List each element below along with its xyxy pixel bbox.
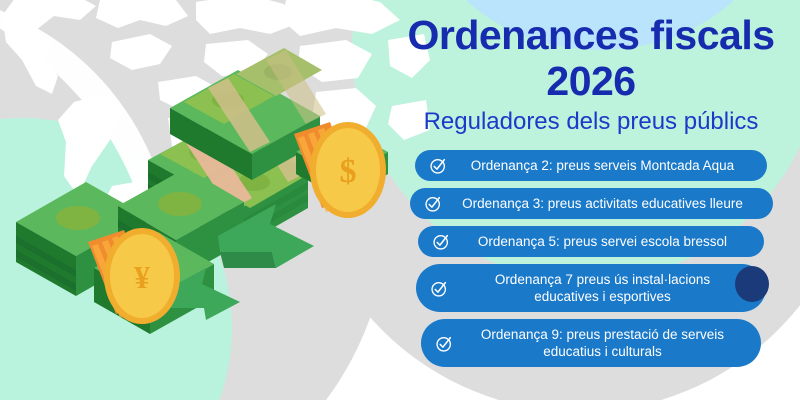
ordinance-pill[interactable]: Ordenança 3: preus activitats educatives…: [410, 188, 773, 219]
check-circle-icon: [430, 279, 449, 298]
check-circle-icon: [432, 232, 451, 251]
check-circle-icon: [424, 194, 443, 213]
page-subtitle: Reguladores dels preus públics: [382, 108, 800, 136]
ordinance-pill-label: Ordenança 9: preus prestació de serveis …: [460, 326, 755, 360]
coin-yen: ¥: [88, 228, 180, 324]
svg-text:¥: ¥: [134, 259, 150, 295]
ordinance-list: Ordenança 2: preus serveis Montcada Aqua…: [382, 150, 800, 374]
page-title-line1: Ordenances fiscals: [382, 12, 800, 58]
page-title-line2: 2026: [382, 58, 800, 104]
poster-canvas: $ ¥ Ordenances fiscals 2026 Reguladores …: [0, 0, 800, 400]
svg-text:$: $: [340, 153, 357, 190]
ordinance-pill[interactable]: Ordenança 9: preus prestació de serveis …: [421, 319, 761, 367]
ordinance-pill[interactable]: Ordenança 5: preus servei escola bressol: [418, 226, 764, 257]
ordinance-pill-label: Ordenança 7 preus ús instal·lacions educ…: [455, 271, 760, 305]
ordinance-pill-label: Ordenança 3: preus activitats educatives…: [449, 195, 767, 212]
page-title: Ordenances fiscals 2026: [382, 12, 800, 104]
ordinance-pill[interactable]: Ordenança 2: preus serveis Montcada Aqua: [415, 150, 767, 181]
ordinance-pill[interactable]: Ordenança 7 preus ús instal·lacions educ…: [416, 264, 766, 312]
ordinance-pill-label: Ordenança 5: preus servei escola bressol: [457, 233, 758, 250]
check-circle-icon: [435, 334, 454, 353]
content-column: Ordenances fiscals 2026 Reguladores dels…: [382, 0, 800, 400]
ordinance-pill-label: Ordenança 2: preus serveis Montcada Aqua: [454, 157, 761, 174]
money-illustration: $ ¥: [8, 30, 408, 360]
check-circle-icon: [429, 156, 448, 175]
